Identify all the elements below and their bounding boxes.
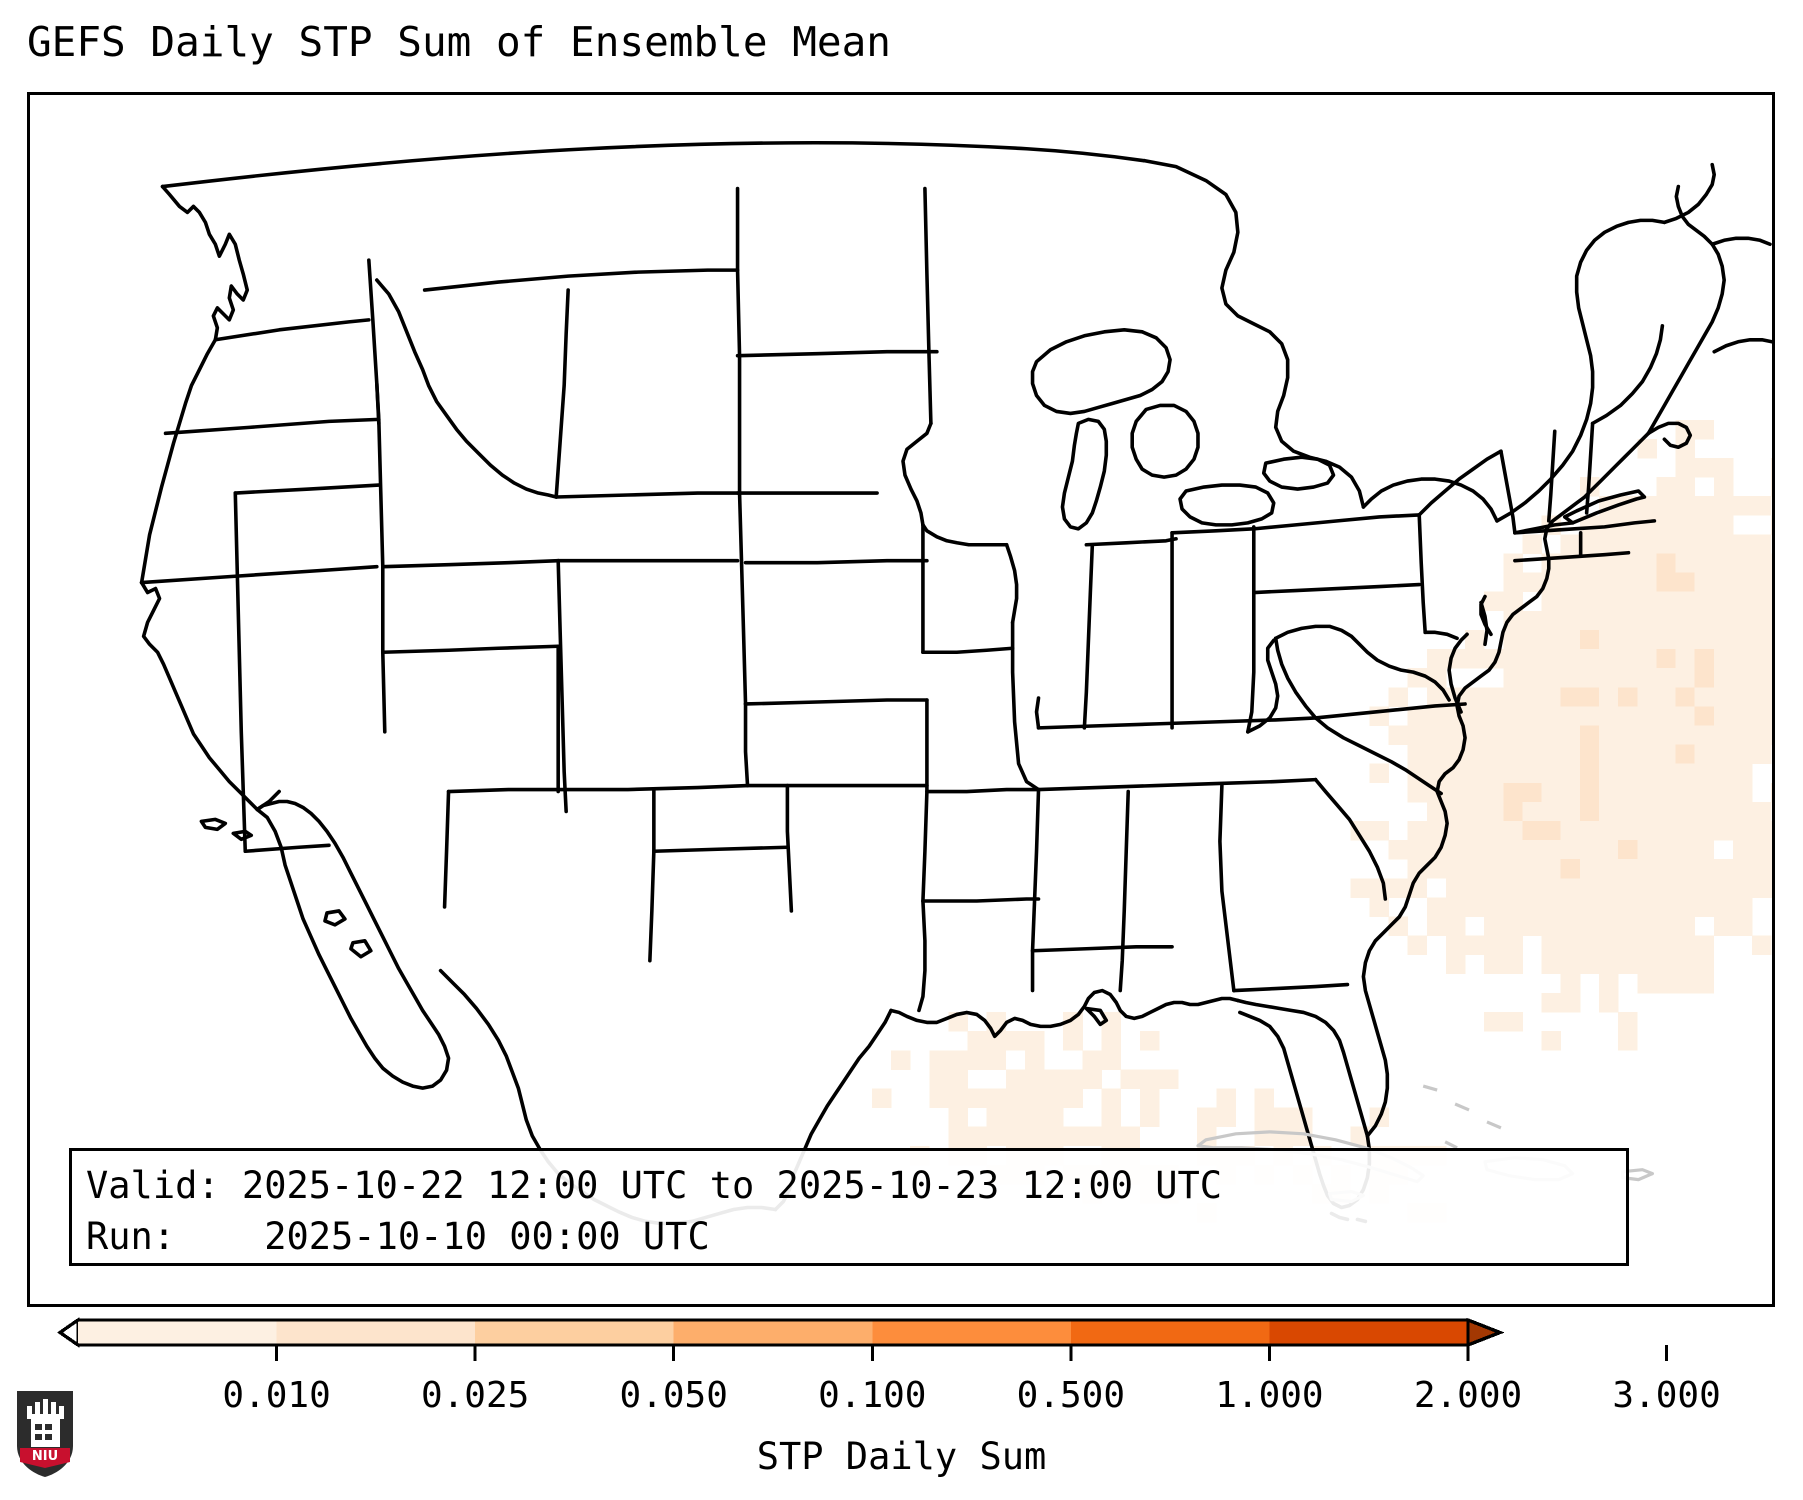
colorbar-region: 0.0100.0250.0500.1000.5001.0002.0003.000… xyxy=(0,1315,1803,1500)
us-map-outlines xyxy=(30,95,1772,1304)
colorbar[interactable] xyxy=(0,1315,1803,1370)
colorbar-band xyxy=(475,1320,674,1345)
colorbar-tick-label: 3.000 xyxy=(1612,1375,1720,1416)
colorbar-tick-label: 0.100 xyxy=(818,1375,926,1416)
colorbar-band xyxy=(78,1320,277,1345)
colorbar-tick-label: 0.025 xyxy=(421,1375,529,1416)
colorbar-tick-label: 1.000 xyxy=(1215,1375,1323,1416)
niu-logo: NIU xyxy=(14,1388,76,1480)
colorbar-over-arrow xyxy=(1468,1320,1500,1345)
colorbar-band xyxy=(674,1320,873,1345)
colorbar-tick-label: 0.010 xyxy=(222,1375,330,1416)
run-time-text: Run: 2025-10-10 00:00 UTC xyxy=(86,1211,1612,1262)
colorbar-tick-label: 2.000 xyxy=(1414,1375,1522,1416)
niu-banner-text: NIU xyxy=(32,1449,58,1464)
colorbar-tick-label: 0.500 xyxy=(1017,1375,1125,1416)
colorbar-band xyxy=(1269,1320,1468,1345)
colorbar-band xyxy=(1071,1320,1270,1345)
colorbar-tick-label: 0.050 xyxy=(620,1375,728,1416)
colorbar-band xyxy=(277,1320,476,1345)
valid-period-text: Valid: 2025-10-22 12:00 UTC to 2025-10-2… xyxy=(86,1160,1612,1211)
colorbar-axis-label: STP Daily Sum xyxy=(0,1435,1803,1478)
colorbar-band xyxy=(872,1320,1071,1345)
page-title: GEFS Daily STP Sum of Ensemble Mean xyxy=(27,18,891,66)
forecast-info-box: Valid: 2025-10-22 12:00 UTC to 2025-10-2… xyxy=(69,1148,1629,1266)
map-panel[interactable]: Valid: 2025-10-22 12:00 UTC to 2025-10-2… xyxy=(27,92,1775,1307)
